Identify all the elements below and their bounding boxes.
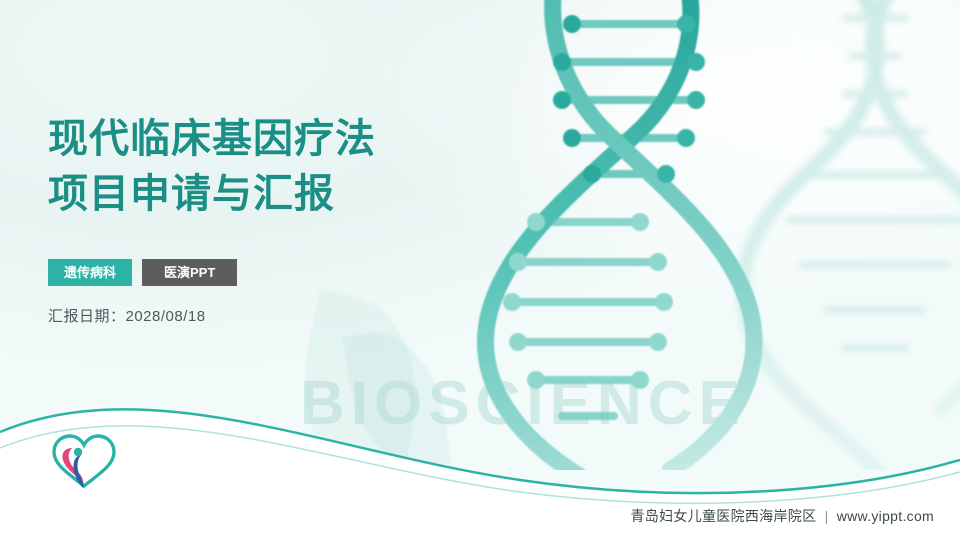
footer-url[interactable]: www.yippt.com — [837, 508, 934, 524]
footer-organization: 青岛妇女儿童医院西海岸院区 — [630, 508, 816, 524]
tag-group: 遗传病科 医演PPT — [48, 259, 237, 286]
title-line-2: 项目申请与汇报 — [48, 167, 376, 222]
footer-separator: | — [825, 508, 829, 524]
slide: BIOSCIENCE — [0, 0, 960, 540]
hospital-logo — [48, 430, 120, 492]
footer: 青岛妇女儿童医院西海岸院区 | www.yippt.com — [630, 506, 934, 526]
tag-department[interactable]: 遗传病科 — [48, 259, 132, 286]
title-line-1: 现代临床基因疗法 — [48, 117, 376, 161]
tag-brand[interactable]: 医演PPT — [142, 259, 237, 286]
slide-title: 现代临床基因疗法 项目申请与汇报 — [48, 112, 376, 222]
report-date: 汇报日期：2028/08/18 — [48, 305, 206, 326]
